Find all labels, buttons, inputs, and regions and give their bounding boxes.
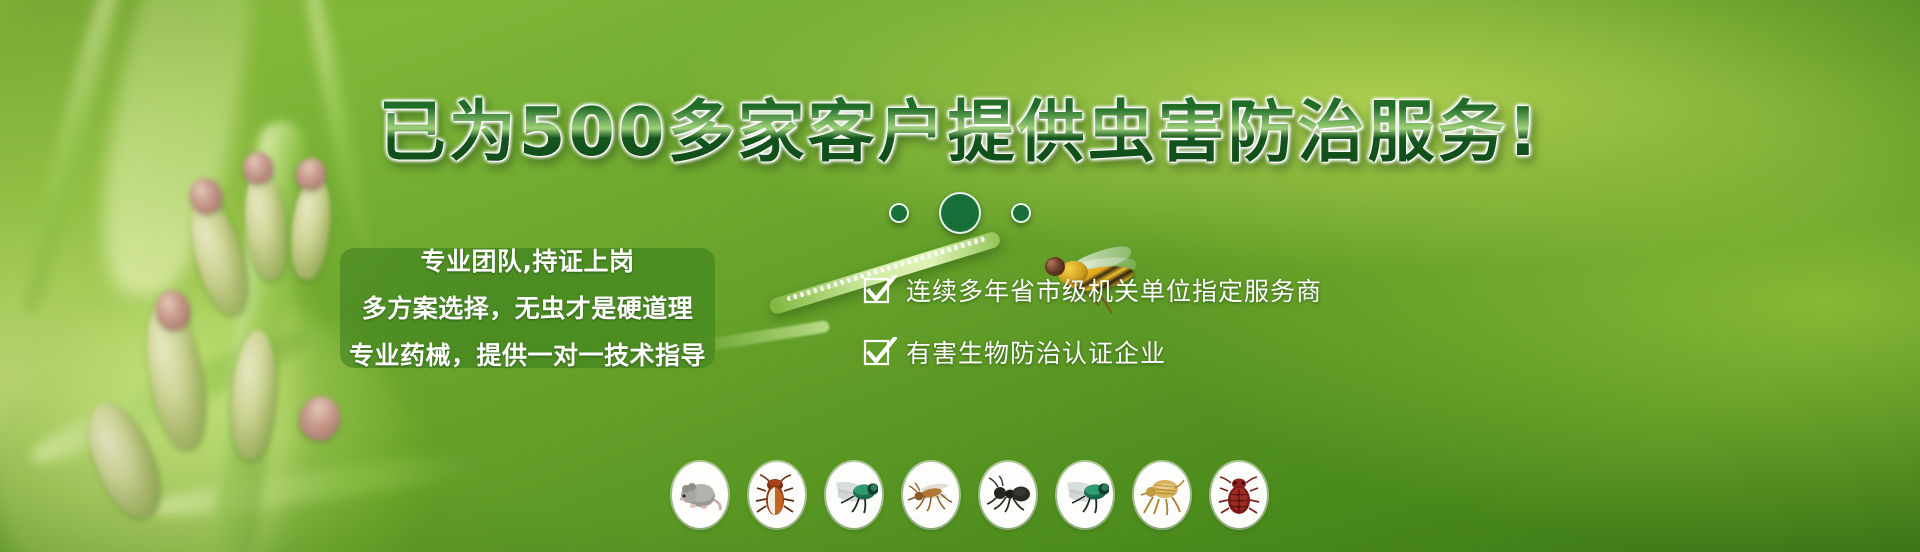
- housefly-icon[interactable]: [1057, 462, 1113, 528]
- checklist-item: 连续多年省市级机关单位指定服务商: [866, 272, 1322, 308]
- checklist-item-label: 有害生物防治认证企业: [906, 334, 1166, 370]
- decorative-dots: [0, 192, 1920, 234]
- dot-small-left: [889, 203, 909, 223]
- slogan-line-3: 专业药械，提供一对一技术指导: [340, 336, 715, 372]
- dew-stem-decoration: [700, 320, 830, 352]
- cockroach-icon[interactable]: [749, 462, 805, 528]
- mosquito-icon[interactable]: [903, 462, 959, 528]
- slogan-line-1: 专业团队,持证上岗: [340, 242, 715, 278]
- banner-headline: 已为500多家客户提供虫害防治服务!: [0, 78, 1920, 175]
- slogan-line-2: 多方案选择，无虫才是硬道理: [340, 289, 715, 325]
- flower-bud-decoration: [294, 391, 346, 445]
- dot-large-center: [939, 192, 981, 234]
- ant-icon[interactable]: [980, 462, 1036, 528]
- bedbug-icon[interactable]: [1211, 462, 1267, 528]
- flea-icon[interactable]: [1134, 462, 1190, 528]
- slogan-panel: 专业团队,持证上岗 多方案选择，无虫才是硬道理 专业药械，提供一对一技术指导: [340, 248, 715, 368]
- checklist-item-label: 连续多年省市级机关单位指定服务商: [906, 272, 1322, 308]
- checklist-item: 有害生物防治认证企业: [866, 334, 1322, 370]
- checkbox-checked-icon: [866, 339, 892, 365]
- fly-icon[interactable]: [826, 462, 882, 528]
- dot-small-right: [1011, 203, 1031, 223]
- grass-blade-decoration: [150, 446, 491, 523]
- pest-control-banner: 已为500多家客户提供虫害防治服务! 专业团队,持证上岗 多方案选择，无虫才是硬…: [0, 0, 1920, 552]
- rat-icon[interactable]: [672, 462, 728, 528]
- credential-checklist: 连续多年省市级机关单位指定服务商 有害生物防治认证企业: [866, 272, 1322, 396]
- pest-icon-row: [672, 462, 1267, 528]
- checkbox-checked-icon: [866, 277, 892, 303]
